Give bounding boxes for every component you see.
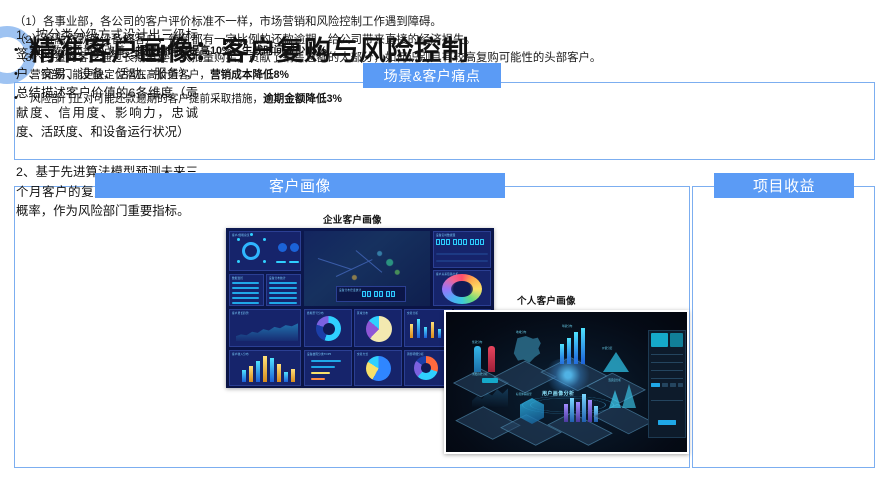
bar-item [424,327,427,338]
hbar-item [311,366,335,368]
filter-row [651,370,683,371]
gauge-node-icon [263,260,266,263]
ring-card-title: 销售明细分析 [407,352,424,356]
bar-item [256,361,260,382]
hbar-item [311,378,325,380]
model-label: 标签体系模型 [516,392,532,396]
list-row [232,292,259,294]
bar-item [263,356,267,382]
bar-item [588,400,592,422]
filter-row [651,354,683,355]
people-label: 性别分布 [472,340,482,344]
gauge-node-icon [263,238,266,241]
personal-dashboard-caption: 个人客户画像 [517,293,576,307]
map-kpi-digit [367,291,371,297]
kpi-digit [441,239,445,245]
gauge-node-icon [237,238,240,241]
donut-card-title: 终端型号分布 [307,311,324,315]
benefit-text-plain: 营销部门能更快定位潜在高价值客户， [30,69,210,81]
age-label: 年龄分布 [562,324,572,328]
bar-item [410,324,413,338]
activity-label: 活跃度分析 [608,378,621,382]
hbar-card: 设备故障分类TOP5 [304,350,352,386]
list-row [269,292,297,294]
list-row [269,302,297,304]
filter-row [651,378,683,379]
map-kpi-digit [362,291,366,297]
bar-item [291,369,295,382]
person-male-icon [474,346,481,372]
data-cloud-icon [542,358,594,392]
list-row [269,282,297,284]
benefit-item: 风险部门正对可能还款逾期的客户提前采取措施，逾期金额降低3% [8,88,883,110]
kpi-digit [475,239,479,245]
kpi-digit [458,239,462,245]
bar-item [576,402,580,422]
relation-graph-icon [442,274,482,304]
bar-item [417,319,420,338]
kpi-digit [463,239,467,245]
ring-chart [414,356,438,380]
pie-chart [366,316,392,342]
value-level-label: 价值分层 [602,346,612,350]
filter-chip[interactable] [662,383,668,387]
enterprise-dashboard-caption: 企业客户画像 [323,212,382,226]
map-legend-title: 设备分布密度统计 [339,288,361,292]
chart-tooltip [482,378,498,383]
benefit-panel [692,186,875,468]
benefit-text-plain: 风险部门正对可能还款逾期的客户提前采取措施， [30,93,263,105]
filter-chip[interactable] [678,383,683,387]
china-map-icon [512,336,542,364]
region-label: 地域分布 [516,330,526,334]
kpi-digit [453,239,457,245]
slide-root: 精准客户画像：客户复购与风险控制 场景&客户痛点 （1）各事业部，各公司的客户评… [0,0,889,500]
gauge-node-icon [250,233,253,236]
bar-item [284,372,288,382]
hbar-item [311,360,341,362]
list-row [232,287,259,289]
list-row [232,282,259,284]
stat-underline [276,261,286,263]
bar-item [249,366,253,382]
bar-item [242,370,246,382]
pie-chart-2 [366,356,391,381]
kpi-card: 设备实时数据量 [433,231,491,268]
bar-item [570,398,574,422]
kpi-digit [446,239,450,245]
stat-bubble-icon [290,243,299,252]
kpi-tile [651,333,668,347]
gauge-card: 客户/终端总览 [229,231,301,271]
bar-item [431,322,434,338]
map-kpi-digit [379,291,383,297]
benefit-text-bold: 报表准确度提高10%，生成时间减少15% [136,45,327,57]
stat-underline [289,261,299,263]
bar-card-small-title: 交易分析 [407,311,418,315]
benefit-text-plain: 通过数据质量的改善， [30,45,136,57]
bar-item [582,394,586,422]
list-card-title: 数据监控 [232,276,243,280]
pyramid-chart-icon [603,352,629,372]
map-kpi-digit [374,291,378,297]
pain-point-badge: 场景&客户痛点 [363,63,501,88]
bar-item [581,328,585,364]
dashboard-center-label: 用户画像分析 [542,390,574,397]
hbar-card-title: 设备故障分类TOP5 [307,352,331,356]
pie-card-title: 区域分布 [357,311,368,315]
gauge-card-title: 客户/终端总览 [232,233,250,237]
gauge-node-icon [237,260,240,263]
customer-portrait-badge: 客户画像 [95,173,505,198]
map-kpi-digit [386,291,390,297]
pie-card-2-title: 交易方式 [357,352,368,356]
hbar-item [311,372,330,374]
bar-card-large-title: 客户收入分布 [232,352,249,356]
list-row [269,287,297,289]
bar-item [438,329,441,338]
trend-label: 消费趋势分析 [472,372,488,376]
submit-button[interactable] [658,420,676,425]
bar-item [277,364,281,382]
filter-row [651,362,683,363]
list-row [269,297,297,299]
list-row [232,297,259,299]
cone-icon [622,384,636,408]
personal-dashboard-image: 性别分布 地域分布 年龄分布 价值分层 用户画像分析 消费趋势分析 标签体系模型 [444,310,689,454]
filter-chip[interactable] [651,383,660,387]
list-card-title: 设备分布统计 [269,276,286,280]
filter-row [651,400,683,401]
kpi-digit [480,239,484,245]
benefit-text-bold: 逾期金额降低3% [263,93,342,105]
cone-icon [609,390,621,408]
kpi-row [436,253,488,255]
filter-chip[interactable] [670,383,676,387]
kpi-digit [436,239,440,245]
trend-card-title: 客户增长趋势 [232,311,249,315]
gauge-ring-icon [242,242,260,260]
benefit-item: 通过数据质量的改善，报表准确度提高10%，生成时间减少15% [8,40,883,62]
donut-chart [316,316,341,341]
kpi-digit [470,239,474,245]
benefit-badge: 项目收益 [714,173,854,198]
list-row [232,302,259,304]
stat-bubble-icon [278,243,287,252]
bar-item [564,404,568,422]
benefit-text-bold: 营销成本降低8% [210,69,289,81]
kpi-tile [670,333,683,347]
bar-item [270,358,274,382]
kpi-row [436,260,488,262]
map-kpi-digit [391,291,395,297]
person-female-icon [488,346,495,372]
kpi-card-title: 设备实时数据量 [436,233,456,237]
